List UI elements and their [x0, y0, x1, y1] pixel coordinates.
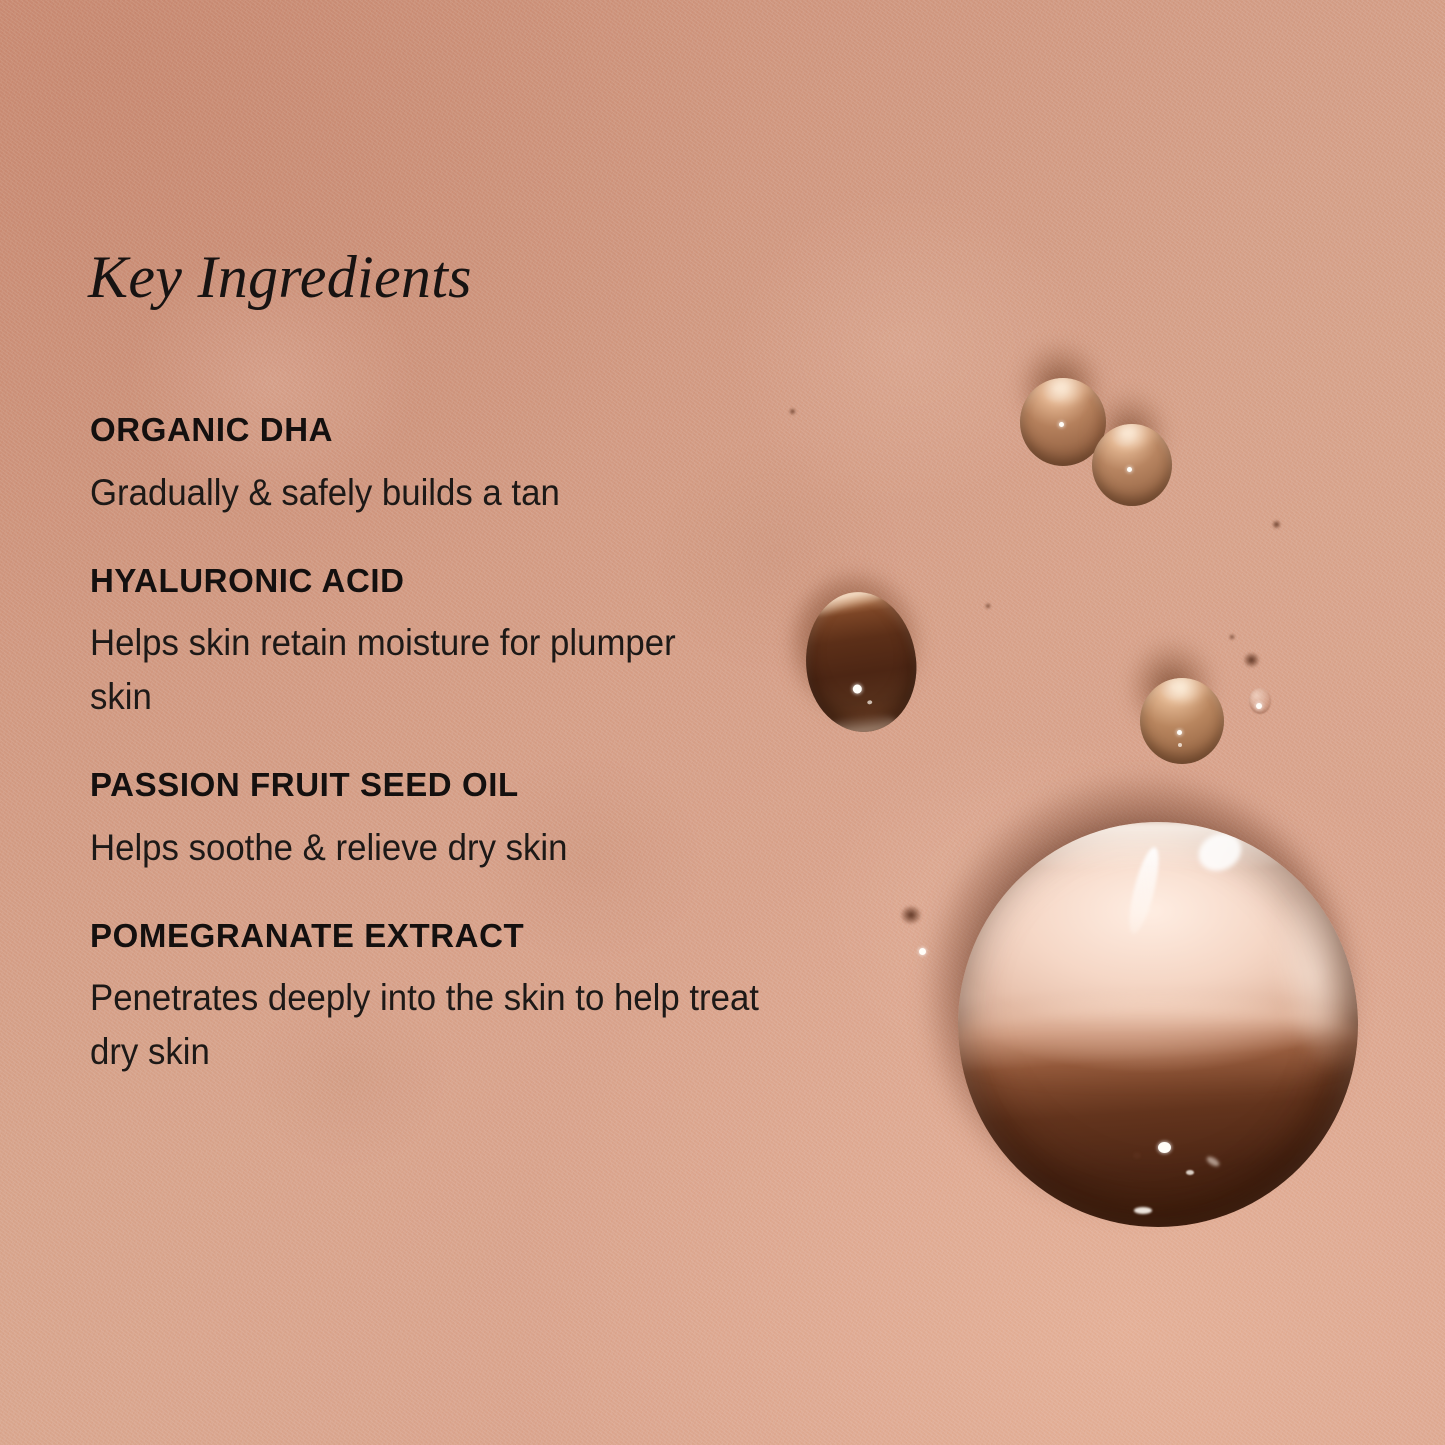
paper-speck [985, 603, 991, 609]
ingredient-item: PASSION FRUIT SEED OIL Helps soothe & re… [90, 765, 890, 874]
ingredient-item: POMEGRANATE EXTRACT Penetrates deeply in… [90, 916, 890, 1078]
micro-droplet-specular-dot [1256, 703, 1262, 709]
page-title: Key Ingredients [88, 246, 472, 309]
ingredient-description: Penetrates deeply into the skin to help … [90, 971, 804, 1078]
ingredient-name: HYALURONIC ACID [90, 561, 890, 601]
paper-speck [900, 905, 922, 925]
ingredient-description: Gradually & safely builds a tan [90, 466, 842, 519]
paper-bright-speck [919, 948, 926, 955]
droplet-specular-dot-small [1178, 743, 1182, 747]
droplet-specular-dot [1177, 730, 1182, 735]
large-water-droplet [958, 822, 1358, 1227]
droplet-specular-dot-small [1186, 1170, 1194, 1175]
droplet-bottom-glint [1134, 1207, 1152, 1214]
key-ingredients-panel: Key Ingredients ORGANIC DHA Gradually & … [0, 0, 1445, 1445]
mid-right-water-droplet [1140, 678, 1224, 764]
paper-speck [1133, 1152, 1141, 1159]
ingredient-item: HYALURONIC ACID Helps skin retain moistu… [90, 561, 890, 723]
upper-right-water-droplet-b [1092, 424, 1172, 506]
ingredients-list: ORGANIC DHA Gradually & safely builds a … [90, 410, 890, 1078]
ingredient-name: PASSION FRUIT SEED OIL [90, 765, 890, 805]
paper-speck [1272, 520, 1281, 529]
ingredient-name: POMEGRANATE EXTRACT [90, 916, 890, 956]
ingredient-name: ORGANIC DHA [90, 410, 890, 450]
ingredient-item: ORGANIC DHA Gradually & safely builds a … [90, 410, 890, 519]
droplet-specular-dot [1158, 1142, 1171, 1153]
droplet-cap-highlight [1103, 424, 1159, 447]
droplet-specular-dot [1059, 422, 1064, 427]
paper-speck [1229, 634, 1235, 640]
paper-speck [1243, 652, 1260, 668]
droplet-specular-streak [1205, 1155, 1221, 1168]
ingredient-description: Helps skin retain moisture for plumper s… [90, 616, 710, 723]
ingredient-description: Helps soothe & relieve dry skin [90, 821, 842, 874]
droplet-cap-highlight [1153, 678, 1212, 702]
micro-droplet [1249, 688, 1271, 714]
droplet-cap-highlight [1034, 378, 1094, 403]
droplet-specular-dot [1127, 467, 1132, 472]
